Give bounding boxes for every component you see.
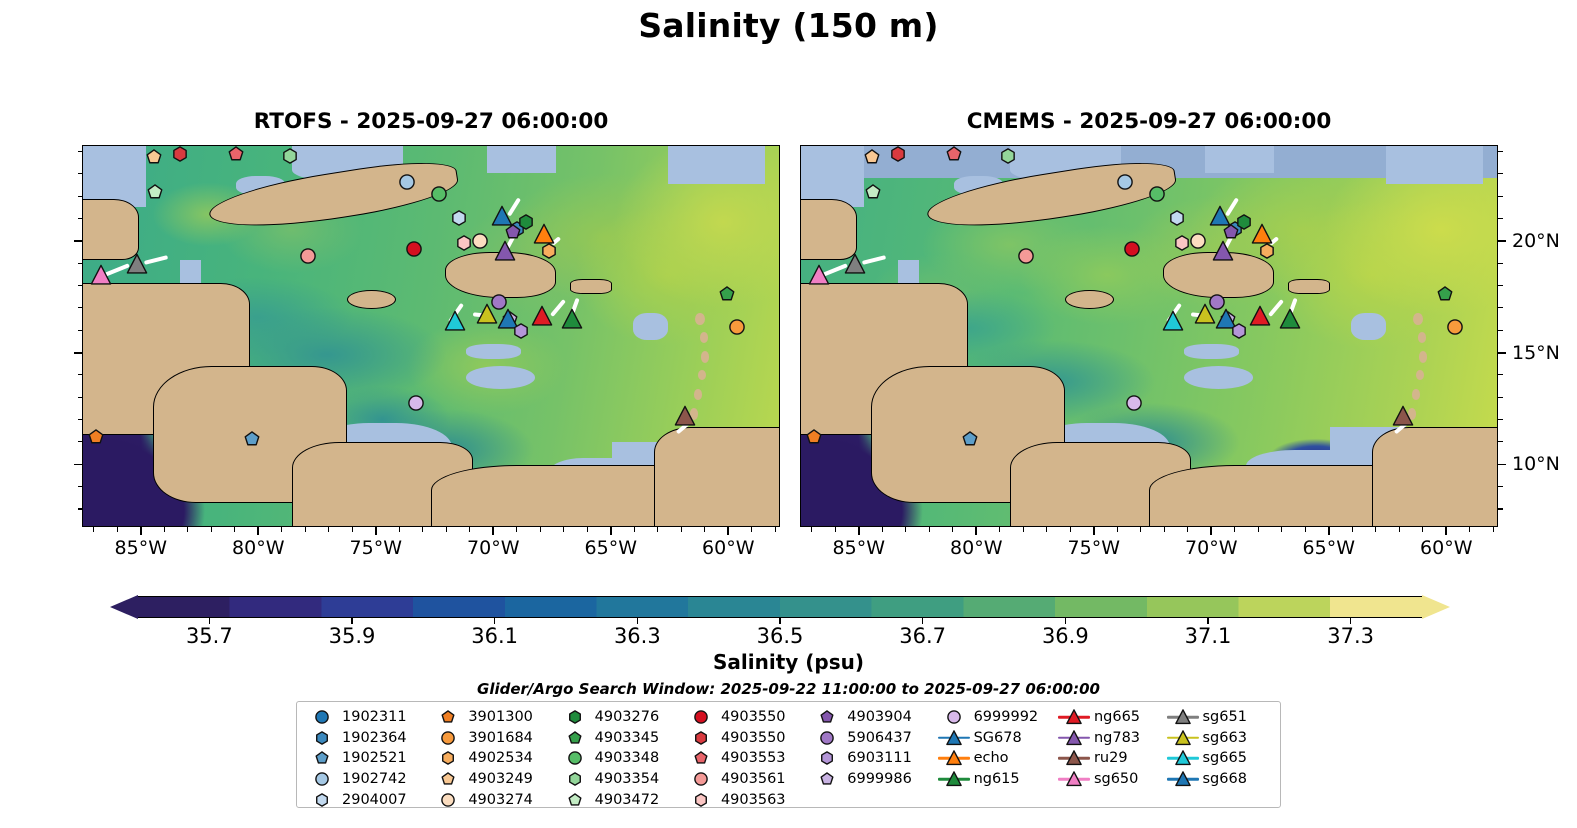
observation-marker[interactable] bbox=[450, 210, 467, 227]
xtick-minor bbox=[929, 527, 930, 532]
glider-marker-icon bbox=[937, 729, 971, 747]
observation-marker[interactable] bbox=[399, 174, 416, 191]
legend-item[interactable]: 4903553 bbox=[684, 748, 810, 769]
legend-item[interactable]: 4903550 bbox=[684, 728, 810, 749]
xtick-minor bbox=[1258, 527, 1259, 532]
argo-marker-icon bbox=[684, 749, 718, 767]
glider-marker-icon bbox=[1166, 749, 1200, 767]
argo-marker-icon bbox=[810, 749, 844, 767]
ytick-minor bbox=[1498, 419, 1503, 420]
legend-item[interactable]: 4902534 bbox=[431, 748, 557, 769]
colorbar-tick-label: 36.7 bbox=[899, 624, 946, 648]
ytick-minor bbox=[1498, 486, 1503, 487]
xtick-label: 85°W bbox=[833, 537, 885, 559]
observation-marker[interactable] bbox=[1168, 210, 1185, 227]
ytick-minor bbox=[1498, 374, 1503, 375]
ytick-minor bbox=[78, 374, 83, 375]
legend-item[interactable]: 4903563 bbox=[684, 789, 810, 810]
legend-item[interactable]: 1902742 bbox=[305, 769, 431, 790]
xtick-minor bbox=[905, 527, 906, 532]
xtick-minor bbox=[1164, 527, 1165, 532]
ytick-minor bbox=[1498, 173, 1503, 174]
xtick-label: 70°W bbox=[1185, 537, 1237, 559]
legend-item[interactable]: 6903111 bbox=[810, 748, 936, 769]
observation-marker[interactable] bbox=[172, 145, 189, 162]
argo-marker-icon bbox=[305, 708, 339, 726]
legend-item-label: echo bbox=[971, 750, 1009, 766]
xtick-minor bbox=[587, 527, 588, 532]
observation-marker[interactable] bbox=[126, 253, 148, 275]
observation-marker[interactable] bbox=[863, 148, 880, 165]
observation-marker[interactable] bbox=[1117, 174, 1134, 191]
legend-column: 49035504903550490355349035614903563 bbox=[684, 707, 810, 810]
observation-marker[interactable] bbox=[1436, 286, 1453, 303]
ytick-major bbox=[1498, 352, 1506, 354]
xtick-minor bbox=[1352, 527, 1353, 532]
xtick-major bbox=[492, 527, 494, 535]
observation-marker[interactable] bbox=[476, 303, 498, 325]
legend-item-label: 4902534 bbox=[465, 750, 533, 766]
argo-marker-icon bbox=[431, 708, 465, 726]
legend-item[interactable]: 4903249 bbox=[431, 769, 557, 790]
legend-item-label: sg665 bbox=[1200, 750, 1247, 766]
legend-item-label: 4903345 bbox=[592, 730, 660, 746]
legend-item-label: 4903550 bbox=[718, 730, 786, 746]
argo-marker-icon bbox=[558, 749, 592, 767]
xtick-label: 85°W bbox=[115, 537, 167, 559]
colorbar-tick-label: 35.9 bbox=[329, 624, 376, 648]
observation-marker[interactable] bbox=[228, 146, 245, 163]
xtick-minor bbox=[1046, 527, 1047, 532]
xtick-major bbox=[1210, 527, 1212, 535]
ytick-minor bbox=[78, 173, 83, 174]
ytick-label: 20°N bbox=[1512, 230, 1560, 252]
observation-marker[interactable] bbox=[808, 264, 830, 286]
map-cmems[interactable] bbox=[800, 145, 1498, 527]
xtick-minor bbox=[281, 527, 282, 532]
observation-marker[interactable] bbox=[962, 430, 979, 447]
argo-marker-icon bbox=[305, 791, 339, 809]
xtick-label: 65°W bbox=[585, 537, 637, 559]
observation-marker[interactable] bbox=[541, 242, 558, 259]
legend-item[interactable]: 4903276 bbox=[558, 707, 684, 728]
argo-marker-icon bbox=[684, 791, 718, 809]
legend-item[interactable]: sg651 bbox=[1166, 707, 1275, 728]
colorbar-extend-high bbox=[1422, 595, 1450, 619]
xtick-minor bbox=[93, 527, 94, 532]
observation-marker[interactable] bbox=[444, 310, 466, 332]
legend-item-label: sg650 bbox=[1091, 771, 1138, 787]
xtick-major bbox=[858, 527, 860, 535]
argo-marker-icon bbox=[558, 729, 592, 747]
legend-item-label: 4903550 bbox=[718, 709, 786, 725]
ytick-major bbox=[74, 240, 82, 242]
observation-marker[interactable] bbox=[1189, 233, 1206, 250]
legend-item[interactable]: SG678 bbox=[937, 728, 1057, 749]
ytick-minor bbox=[1498, 508, 1503, 509]
xtick-minor bbox=[516, 527, 517, 532]
legend-item-label: 6903111 bbox=[844, 750, 912, 766]
xtick-minor bbox=[1399, 527, 1400, 532]
xtick-minor bbox=[1281, 527, 1282, 532]
argo-marker-icon bbox=[305, 770, 339, 788]
observation-marker[interactable] bbox=[1447, 318, 1464, 335]
observation-marker[interactable] bbox=[864, 183, 881, 200]
legend-item-label: 4903274 bbox=[465, 792, 533, 808]
ytick-minor bbox=[78, 151, 83, 152]
xtick-label: 60°W bbox=[1420, 537, 1472, 559]
colorbar-gradient bbox=[138, 596, 1422, 618]
legend-item[interactable]: 4903345 bbox=[558, 728, 684, 749]
observation-marker[interactable] bbox=[1000, 147, 1017, 164]
legend-grid: 1902311190236419025211902742290400739013… bbox=[305, 707, 1274, 810]
xtick-minor bbox=[211, 527, 212, 532]
xtick-major bbox=[1445, 527, 1447, 535]
xtick-minor bbox=[352, 527, 353, 532]
colorbar-label: Salinity (psu) bbox=[0, 650, 1577, 674]
xtick-minor bbox=[681, 527, 682, 532]
ytick-major bbox=[74, 464, 82, 466]
ytick-minor bbox=[1498, 441, 1503, 442]
ytick-minor bbox=[1498, 307, 1503, 308]
xtick-major bbox=[375, 527, 377, 535]
legend-item-label: 4903348 bbox=[592, 750, 660, 766]
xtick-label: 60°W bbox=[702, 537, 754, 559]
legend-column: 4903904590643769031116999986 bbox=[810, 707, 936, 810]
observation-marker[interactable] bbox=[561, 308, 583, 330]
observation-marker[interactable] bbox=[1017, 248, 1034, 265]
glider-marker-icon bbox=[1166, 770, 1200, 788]
legend-item[interactable]: 1902311 bbox=[305, 707, 431, 728]
ytick-minor bbox=[78, 307, 83, 308]
ytick-minor bbox=[78, 508, 83, 509]
panel-cmems-title: CMEMS - 2025-09-27 06:00:00 bbox=[800, 109, 1498, 134]
ytick-minor bbox=[78, 419, 83, 420]
legend-item[interactable]: sg663 bbox=[1166, 728, 1275, 749]
observation-marker[interactable] bbox=[505, 223, 522, 240]
legend-item-label: sg651 bbox=[1200, 709, 1247, 725]
legend-item[interactable]: 6999992 bbox=[937, 707, 1057, 728]
legend-item[interactable]: sg650 bbox=[1057, 769, 1166, 790]
legend-item[interactable]: 3901300 bbox=[431, 707, 557, 728]
glider-marker-icon bbox=[1057, 749, 1091, 767]
observation-marker[interactable] bbox=[1212, 240, 1234, 262]
legend-item-label: 4903276 bbox=[592, 709, 660, 725]
argo-marker-icon bbox=[431, 749, 465, 767]
ytick-major bbox=[74, 352, 82, 354]
legend-item-label: 4903563 bbox=[718, 792, 786, 808]
xtick-minor bbox=[305, 527, 306, 532]
observation-marker[interactable] bbox=[674, 405, 696, 427]
xtick-major bbox=[727, 527, 729, 535]
legend-item[interactable]: 6999986 bbox=[810, 769, 936, 790]
legend-item[interactable]: 2904007 bbox=[305, 789, 431, 810]
observation-marker[interactable] bbox=[1279, 308, 1301, 330]
legend-item-label: 1902521 bbox=[339, 750, 407, 766]
observation-marker[interactable] bbox=[244, 430, 261, 447]
legend-item-label: 4903249 bbox=[465, 771, 533, 787]
xtick-major bbox=[140, 527, 142, 535]
argo-marker-icon bbox=[684, 729, 718, 747]
xtick-minor bbox=[164, 527, 165, 532]
observation-marker[interactable] bbox=[718, 286, 735, 303]
panel-cmems: CMEMS - 2025-09-27 06:00:00 bbox=[800, 145, 1498, 527]
xtick-label: 80°W bbox=[950, 537, 1002, 559]
ytick-major bbox=[1498, 240, 1506, 242]
observation-marker[interactable] bbox=[406, 240, 423, 257]
legend-item[interactable]: echo bbox=[937, 748, 1057, 769]
observation-marker[interactable] bbox=[729, 318, 746, 335]
observation-marker[interactable] bbox=[1231, 323, 1248, 340]
ytick-minor bbox=[1498, 196, 1503, 197]
xtick-minor bbox=[328, 527, 329, 532]
legend-item-label: 4903561 bbox=[718, 771, 786, 787]
legend-column: 19023111902364190252119027422904007 bbox=[305, 707, 431, 810]
observation-marker[interactable] bbox=[494, 240, 516, 262]
legend-item[interactable]: sg665 bbox=[1166, 748, 1275, 769]
argo-marker-icon bbox=[431, 770, 465, 788]
xtick-minor bbox=[1234, 527, 1235, 532]
xtick-label: 80°W bbox=[232, 537, 284, 559]
ytick-minor bbox=[78, 263, 83, 264]
ytick-minor bbox=[78, 196, 83, 197]
xtick-minor bbox=[187, 527, 188, 532]
xtick-label: 75°W bbox=[350, 537, 402, 559]
legend-item-label: ng615 bbox=[971, 771, 1020, 787]
ytick-minor bbox=[78, 441, 83, 442]
observation-marker[interactable] bbox=[90, 264, 112, 286]
xtick-minor bbox=[234, 527, 235, 532]
xtick-minor bbox=[1187, 527, 1188, 532]
legend-item-label: 4903354 bbox=[592, 771, 660, 787]
xtick-minor bbox=[422, 527, 423, 532]
observation-marker[interactable] bbox=[1194, 303, 1216, 325]
figure-title: Salinity (150 m) bbox=[0, 6, 1577, 45]
ytick-minor bbox=[1498, 285, 1503, 286]
colorbar-tick-label: 36.5 bbox=[757, 624, 804, 648]
observation-marker[interactable] bbox=[1124, 240, 1141, 257]
ytick-minor bbox=[78, 397, 83, 398]
xtick-minor bbox=[540, 527, 541, 532]
xtick-minor bbox=[1117, 527, 1118, 532]
argo-marker-icon bbox=[684, 770, 718, 788]
legend-item[interactable]: 4903904 bbox=[810, 707, 936, 728]
glider-marker-icon bbox=[1057, 729, 1091, 747]
ytick-minor bbox=[78, 330, 83, 331]
xtick-minor bbox=[1469, 527, 1470, 532]
observation-marker[interactable] bbox=[1125, 394, 1142, 411]
xtick-major bbox=[1093, 527, 1095, 535]
colorbar: 35.735.936.136.336.536.736.937.137.3 bbox=[110, 596, 1450, 618]
xtick-minor bbox=[1422, 527, 1423, 532]
observation-marker[interactable] bbox=[1392, 405, 1414, 427]
argo-marker-icon bbox=[431, 729, 465, 747]
xtick-minor bbox=[1493, 527, 1494, 532]
xtick-minor bbox=[117, 527, 118, 532]
legend-column: 6999992SG678echong615 bbox=[937, 707, 1057, 810]
observation-marker[interactable] bbox=[1259, 242, 1276, 259]
observation-marker[interactable] bbox=[1223, 223, 1240, 240]
ytick-minor bbox=[1498, 263, 1503, 264]
glider-marker-icon bbox=[1166, 708, 1200, 726]
legend-item[interactable]: 4903550 bbox=[684, 707, 810, 728]
xtick-minor bbox=[751, 527, 752, 532]
ytick-minor bbox=[78, 285, 83, 286]
xtick-minor bbox=[1305, 527, 1306, 532]
legend-item[interactable]: 4903354 bbox=[558, 769, 684, 790]
xtick-major bbox=[610, 527, 612, 535]
legend-item-label: 1902364 bbox=[339, 730, 407, 746]
argo-marker-icon bbox=[810, 729, 844, 747]
xtick-minor bbox=[469, 527, 470, 532]
legend-item[interactable]: ng615 bbox=[937, 769, 1057, 790]
argo-marker-icon bbox=[684, 708, 718, 726]
legend-item-label: 4903472 bbox=[592, 792, 660, 808]
legend-item[interactable]: 4903561 bbox=[684, 769, 810, 790]
argo-marker-icon bbox=[305, 729, 339, 747]
xtick-minor bbox=[634, 527, 635, 532]
xtick-label: 65°W bbox=[1303, 537, 1355, 559]
legend-item-label: ng783 bbox=[1091, 730, 1140, 746]
legend-item-label: sg668 bbox=[1200, 771, 1247, 787]
ytick-minor bbox=[1498, 218, 1503, 219]
legend-item-label: 5906437 bbox=[844, 730, 912, 746]
legend-item-label: 4903553 bbox=[718, 750, 786, 766]
colorbar-tick-label: 36.3 bbox=[614, 624, 661, 648]
colorbar-tick-label: 35.7 bbox=[186, 624, 233, 648]
argo-marker-icon bbox=[431, 791, 465, 809]
legend-column: 39013003901684490253449032494903274 bbox=[431, 707, 557, 810]
ytick-minor bbox=[78, 218, 83, 219]
legend-column: 49032764903345490334849033544903472 bbox=[558, 707, 684, 810]
colorbar-extend-low bbox=[110, 595, 138, 619]
xtick-minor bbox=[657, 527, 658, 532]
observation-marker[interactable] bbox=[513, 323, 530, 340]
glider-marker-icon bbox=[1057, 708, 1091, 726]
xtick-label: 75°W bbox=[1068, 537, 1120, 559]
map-rtofs[interactable] bbox=[82, 145, 780, 527]
legend-item[interactable]: 1902364 bbox=[305, 728, 431, 749]
ytick-major bbox=[1498, 464, 1506, 466]
colorbar-tick-label: 37.3 bbox=[1327, 624, 1374, 648]
glider-marker-icon bbox=[1057, 770, 1091, 788]
xtick-minor bbox=[811, 527, 812, 532]
xtick-minor bbox=[446, 527, 447, 532]
legend-item-label: 6999986 bbox=[844, 771, 912, 787]
xtick-minor bbox=[1375, 527, 1376, 532]
panel-rtofs: RTOFS - 2025-09-27 06:00:00 bbox=[82, 145, 780, 527]
legend-item[interactable]: 4903274 bbox=[431, 789, 557, 810]
xtick-major bbox=[257, 527, 259, 535]
observation-marker[interactable] bbox=[946, 146, 963, 163]
argo-marker-icon bbox=[810, 708, 844, 726]
observation-marker[interactable] bbox=[805, 428, 822, 445]
legend-item[interactable]: 1902521 bbox=[305, 748, 431, 769]
ytick-minor bbox=[1498, 151, 1503, 152]
argo-marker-icon bbox=[558, 791, 592, 809]
argo-marker-icon bbox=[937, 708, 971, 726]
observation-marker[interactable] bbox=[531, 305, 553, 327]
legend-item-label: sg663 bbox=[1200, 730, 1247, 746]
xtick-minor bbox=[704, 527, 705, 532]
argo-marker-icon bbox=[305, 749, 339, 767]
observation-marker[interactable] bbox=[1149, 185, 1166, 202]
legend-item-label: 3901300 bbox=[465, 709, 533, 725]
panel-rtofs-title: RTOFS - 2025-09-27 06:00:00 bbox=[82, 109, 780, 134]
xtick-major bbox=[1328, 527, 1330, 535]
ytick-minor bbox=[78, 486, 83, 487]
legend-item-label: 1902742 bbox=[339, 771, 407, 787]
legend-item-label: 1902311 bbox=[339, 709, 407, 725]
observation-marker[interactable] bbox=[431, 185, 448, 202]
legend-item-label: 2904007 bbox=[339, 792, 407, 808]
xtick-minor bbox=[882, 527, 883, 532]
legend-item-label: ng665 bbox=[1091, 709, 1140, 725]
xtick-minor bbox=[1023, 527, 1024, 532]
legend[interactable]: 1902311190236419025211902742290400739013… bbox=[296, 701, 1281, 808]
legend-column: ng665ng783ru29sg650 bbox=[1057, 707, 1166, 810]
observation-marker[interactable] bbox=[844, 253, 866, 275]
xtick-minor bbox=[952, 527, 953, 532]
xtick-label: 70°W bbox=[467, 537, 519, 559]
colorbar-tick-label: 36.1 bbox=[471, 624, 518, 648]
xtick-minor bbox=[563, 527, 564, 532]
observation-marker[interactable] bbox=[471, 233, 488, 250]
legend-item-label: SG678 bbox=[971, 730, 1022, 746]
ytick-minor bbox=[1498, 397, 1503, 398]
glider-marker-icon bbox=[937, 770, 971, 788]
argo-marker-icon bbox=[810, 770, 844, 788]
xtick-minor bbox=[835, 527, 836, 532]
legend-item[interactable]: 5906437 bbox=[810, 728, 936, 749]
glider-marker-icon bbox=[1166, 729, 1200, 747]
observation-marker[interactable] bbox=[407, 394, 424, 411]
observation-markers-cmems[interactable] bbox=[801, 146, 1497, 526]
colorbar-tick-label: 37.1 bbox=[1185, 624, 1232, 648]
observation-marker[interactable] bbox=[87, 428, 104, 445]
legend-item[interactable]: ng665 bbox=[1057, 707, 1166, 728]
observation-marker[interactable] bbox=[299, 248, 316, 265]
ytick-minor bbox=[1498, 330, 1503, 331]
observation-marker[interactable] bbox=[890, 145, 907, 162]
legend-item[interactable]: 4903472 bbox=[558, 789, 684, 810]
legend-item[interactable]: 4903348 bbox=[558, 748, 684, 769]
search-window-text: Glider/Argo Search Window: 2025-09-22 11… bbox=[0, 680, 1577, 698]
legend-item-label: 6999992 bbox=[971, 709, 1039, 725]
ytick-label: 10°N bbox=[1512, 453, 1560, 475]
legend-item[interactable]: 3901684 bbox=[431, 728, 557, 749]
observation-marker[interactable] bbox=[1249, 305, 1271, 327]
observation-markers-rtofs[interactable] bbox=[83, 146, 779, 526]
legend-column: sg651sg663sg665sg668 bbox=[1166, 707, 1275, 810]
xtick-major bbox=[975, 527, 977, 535]
observation-marker[interactable] bbox=[146, 183, 163, 200]
legend-item[interactable]: sg668 bbox=[1166, 769, 1275, 790]
legend-item[interactable]: ng783 bbox=[1057, 728, 1166, 749]
legend-item[interactable]: ru29 bbox=[1057, 748, 1166, 769]
xtick-minor bbox=[1070, 527, 1071, 532]
legend-item-label: 3901684 bbox=[465, 730, 533, 746]
xtick-minor bbox=[399, 527, 400, 532]
xtick-minor bbox=[1140, 527, 1141, 532]
observation-marker[interactable] bbox=[145, 148, 162, 165]
observation-marker[interactable] bbox=[1162, 310, 1184, 332]
glider-marker-icon bbox=[937, 749, 971, 767]
colorbar-tick-label: 36.9 bbox=[1042, 624, 1089, 648]
argo-marker-icon bbox=[558, 770, 592, 788]
observation-marker[interactable] bbox=[282, 147, 299, 164]
argo-marker-icon bbox=[558, 708, 592, 726]
